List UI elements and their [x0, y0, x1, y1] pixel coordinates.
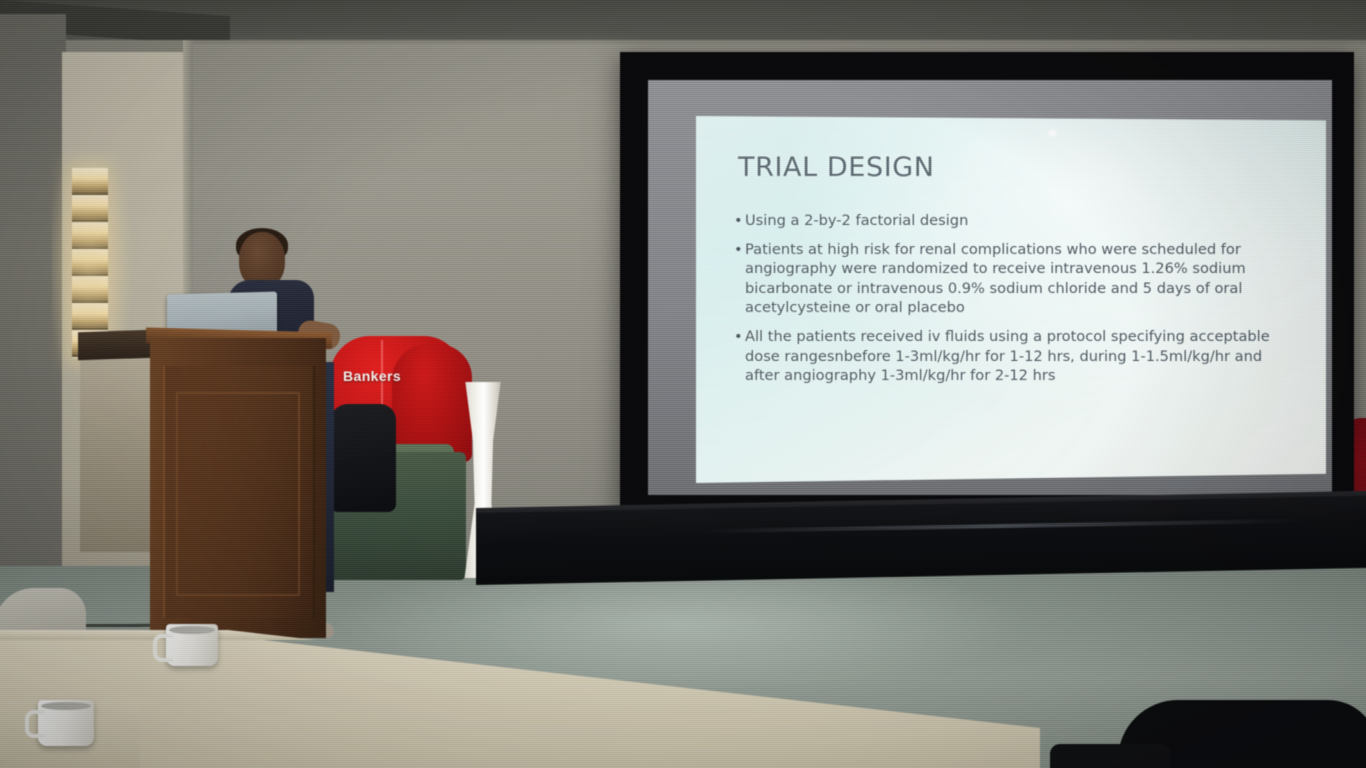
bullet-icon: • — [734, 240, 745, 318]
banner-label: Bankers — [343, 368, 401, 384]
screen-surround: TRIAL DESIGN • Using a 2-by-2 factorial … — [648, 80, 1332, 495]
projection-screen: TRIAL DESIGN • Using a 2-by-2 factorial … — [620, 52, 1354, 517]
bullet-text: Using a 2-by-2 factorial design — [745, 211, 1299, 231]
slide-title: TRIAL DESIGN — [738, 152, 935, 183]
dark-chair-secondary — [1050, 744, 1170, 768]
bullet-text: Patients at high risk for renal complica… — [745, 240, 1299, 318]
list-item: • Patients at high risk for renal compli… — [734, 240, 1299, 318]
black-bag — [330, 404, 396, 512]
list-item: • All the patients received iv fluids us… — [734, 327, 1299, 386]
slide-bullet-list: • Using a 2-by-2 factorial design • Pati… — [734, 211, 1299, 395]
left-wall-return — [0, 14, 66, 614]
projector-hotspot — [1048, 130, 1057, 136]
bullet-icon: • — [734, 211, 745, 231]
bullet-icon: • — [734, 327, 745, 386]
projected-slide: TRIAL DESIGN • Using a 2-by-2 factorial … — [696, 116, 1326, 483]
cup-rim — [41, 702, 91, 710]
coffee-cup — [166, 624, 218, 666]
bullet-text: All the patients received iv fluids usin… — [745, 327, 1299, 386]
room-photo-scene: Bankers TRIAL DESIGN • Using a 2-by-2 fa… — [0, 0, 1366, 768]
cup-handle — [25, 710, 45, 738]
cup-rim — [169, 626, 215, 634]
podium-front-panel — [176, 392, 300, 596]
window-blinds — [72, 168, 108, 358]
cup-handle — [153, 634, 173, 662]
coffee-cup — [38, 700, 94, 746]
list-item: • Using a 2-by-2 factorial design — [734, 211, 1299, 231]
